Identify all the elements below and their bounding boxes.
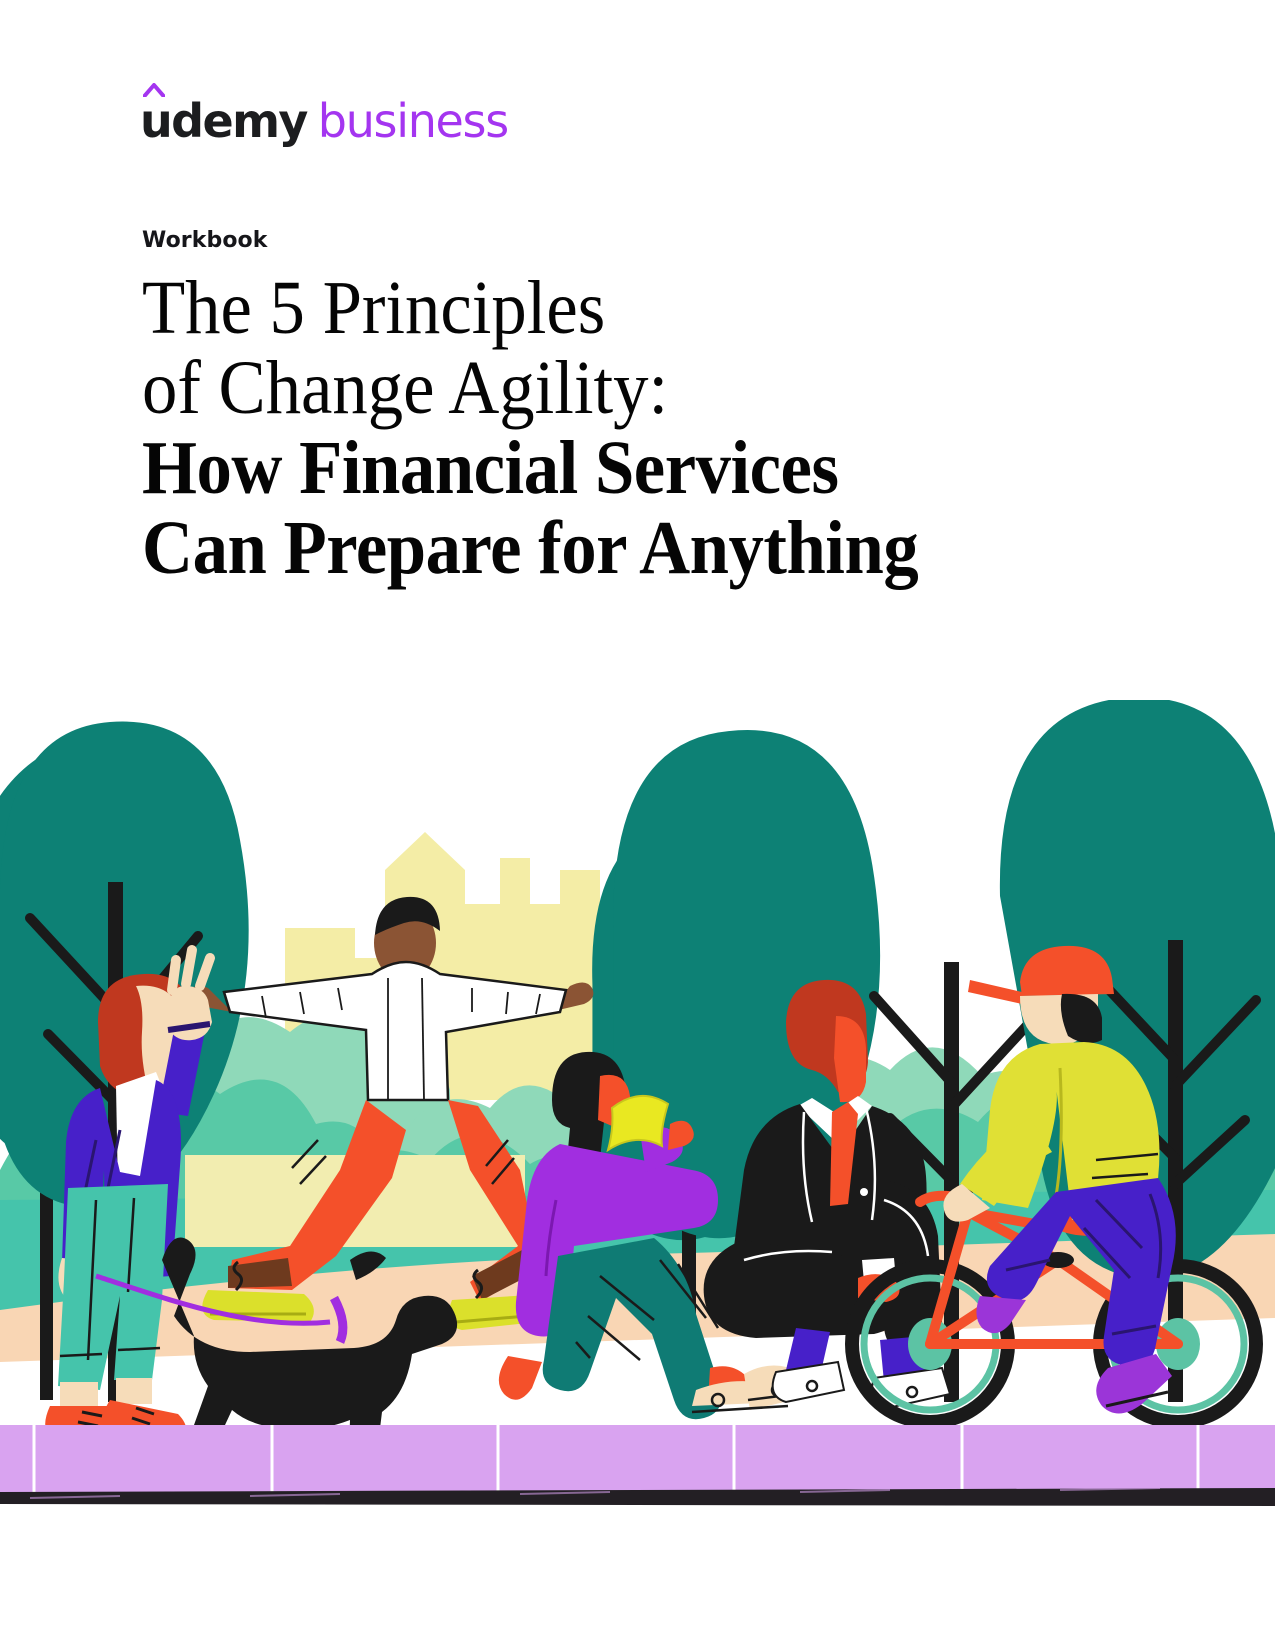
page-title: The 5 Principles of Change Agility: How … xyxy=(142,268,1142,588)
udemy-business-logo: udemy business xyxy=(140,98,508,144)
park-scene-svg xyxy=(0,700,1275,1510)
document-type-label: Workbook xyxy=(142,228,268,253)
logo-wordmark-udemy: udemy xyxy=(140,98,307,144)
yoga-man-left-shoe xyxy=(202,1290,314,1322)
logo-business-text: business xyxy=(318,98,508,144)
title-line-4: Can Prepare for Anything xyxy=(142,508,1072,588)
title-line-3: How Financial Services xyxy=(142,428,1072,508)
title-line-1: The 5 Principles xyxy=(142,268,1072,348)
park-scene-illustration xyxy=(0,700,1275,1510)
logo-udemy-text: udemy xyxy=(140,94,307,148)
title-line-2: of Change Agility: xyxy=(142,348,1072,428)
sidewalk-band xyxy=(0,1425,1275,1497)
udemy-caret-icon xyxy=(143,83,165,97)
